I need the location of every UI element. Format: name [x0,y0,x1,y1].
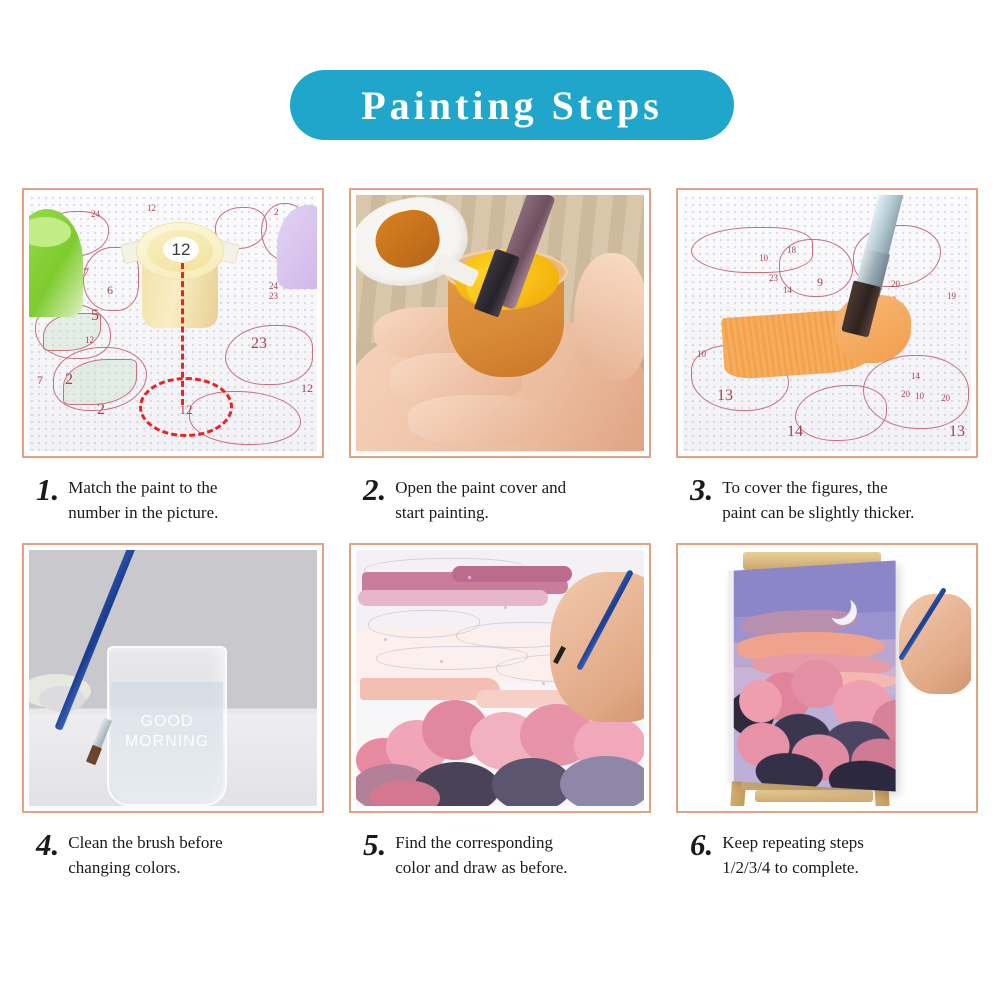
canvas-number: 19 [947,291,956,301]
canvas-number: 24 [91,209,100,219]
canvas-number: 10 [915,391,924,401]
canvas-number: 2 [274,207,279,217]
step-caption-5: 5. Find the corresponding color and draw… [349,829,651,880]
canvas-number: 6 [107,283,113,298]
step-photo-1: 12 24 2 7 6 5 12 2 7 2 23 24 23 12 [29,195,317,451]
canvas-number: 23 [251,335,267,353]
blossom-shadow [560,756,644,806]
easel-tray-lip [755,790,873,802]
glass-text-line-2: MORNING [109,732,225,752]
finger [408,395,548,445]
step-caption-3: 3. To cover the figures, the paint can b… [676,474,978,525]
step-number-2: 2. [363,474,386,505]
canvas-outline [225,325,313,385]
canvas-number: 23 [769,273,778,283]
step-text-4: Clean the brush before changing colors. [68,831,222,880]
glass-printed-text: GOOD MORNING [109,712,225,752]
paint-residue-on-lid [370,205,444,273]
step-photo-frame-6 [676,543,978,813]
finished-painting-canvas [728,561,895,792]
canvas-number: 13 [949,423,965,441]
step-text-6: Keep repeating steps 1/2/3/4 to complete… [722,831,864,880]
canvas-number: 14 [783,285,792,295]
page-title-banner: Painting Steps [290,70,734,140]
step-number-4: 4. [36,829,59,860]
canvas-number: 7 [37,373,43,388]
painted-band [358,590,548,606]
step-caption-4: 4. Clean the brush before changing color… [22,829,324,880]
step-photo-4: GOOD MORNING [29,550,317,806]
canvas-number: 10 [759,253,768,263]
steps-row-bottom: GOOD MORNING 4. Clean the brush before c… [0,543,1000,880]
water-glass: GOOD MORNING [107,646,227,806]
step-text-1: Match the paint to the number in the pic… [68,476,218,525]
canvas-number: 2 [65,371,73,389]
step-photo-frame-2 [349,188,651,458]
canvas-number: 20 [901,389,910,399]
step-photo-frame-3: 18 10 23 14 9 20 13 19 10 20 13 14 20 10… [676,188,978,458]
step-photo-6 [683,550,971,806]
step-photo-2 [356,195,644,451]
step-caption-6: 6. Keep repeating steps 1/2/3/4 to compl… [676,829,978,880]
step-card-5: 5. Find the corresponding color and draw… [349,543,651,880]
step-number-1: 1. [36,474,59,505]
step-photo-frame-5 [349,543,651,813]
step-text-2: Open the paint cover and start painting. [395,476,566,525]
match-dashed-ellipse: 12 [139,377,233,437]
canvas-number: 23 [269,291,278,301]
canvas-number: 10 [697,349,706,359]
paint-pot-lid: 12 [136,222,224,280]
canvas-number: 5 [91,307,99,325]
canvas-number: 20 [941,393,950,403]
canvas-number: 12 [147,203,156,213]
step-number-3: 3. [690,474,713,505]
canvas-edge [728,571,733,782]
step-caption-1: 1. Match the paint to the number in the … [22,474,324,525]
canvas-number: 24 [269,281,278,291]
painting-cherry-blossoms [734,657,896,791]
canvas-number: 14 [787,423,803,441]
steps-row-top: 12 24 2 7 6 5 12 2 7 2 23 24 23 12 [0,188,1000,525]
blossom-cluster [370,780,440,806]
match-target-number: 12 [180,402,193,418]
painted-band [452,566,572,582]
step-photo-frame-1: 12 24 2 7 6 5 12 2 7 2 23 24 23 12 [22,188,324,458]
step-text-5: Find the corresponding color and draw as… [395,831,567,880]
canvas-number: 12 [301,381,313,396]
paint-pot: 12 [134,220,226,328]
painting-steps-grid: 12 24 2 7 6 5 12 2 7 2 23 24 23 12 [0,188,1000,881]
step-number-6: 6. [690,829,713,860]
step-card-3: 18 10 23 14 9 20 13 19 10 20 13 14 20 10… [676,188,978,525]
canvas-number: 20 [891,279,900,289]
page-title: Painting Steps [361,82,663,129]
step-card-2: 2. Open the paint cover and start painti… [349,188,651,525]
canvas-number: 12 [85,335,94,345]
step-photo-3: 18 10 23 14 9 20 13 19 10 20 13 14 20 10… [683,195,971,451]
glass-text-line-1: GOOD [109,712,225,732]
canvas-number: 14 [911,371,920,381]
canvas-number: 7 [83,265,89,280]
step-card-1: 12 24 2 7 6 5 12 2 7 2 23 24 23 12 [22,188,324,525]
canvas-number: 2 [97,401,105,419]
step-text-3: To cover the figures, the paint can be s… [722,476,914,525]
canvas-number: 9 [817,275,823,290]
step-caption-2: 2. Open the paint cover and start painti… [349,474,651,525]
paint-pot-number-label: 12 [163,237,199,262]
step-photo-frame-4: GOOD MORNING [22,543,324,813]
canvas-number: 13 [717,387,733,405]
step-card-4: GOOD MORNING 4. Clean the brush before c… [22,543,324,880]
step-photo-5 [356,550,644,806]
step-card-6: 6. Keep repeating steps 1/2/3/4 to compl… [676,543,978,880]
thumb [574,253,644,381]
step-number-5: 5. [363,829,386,860]
canvas-number: 18 [787,245,796,255]
